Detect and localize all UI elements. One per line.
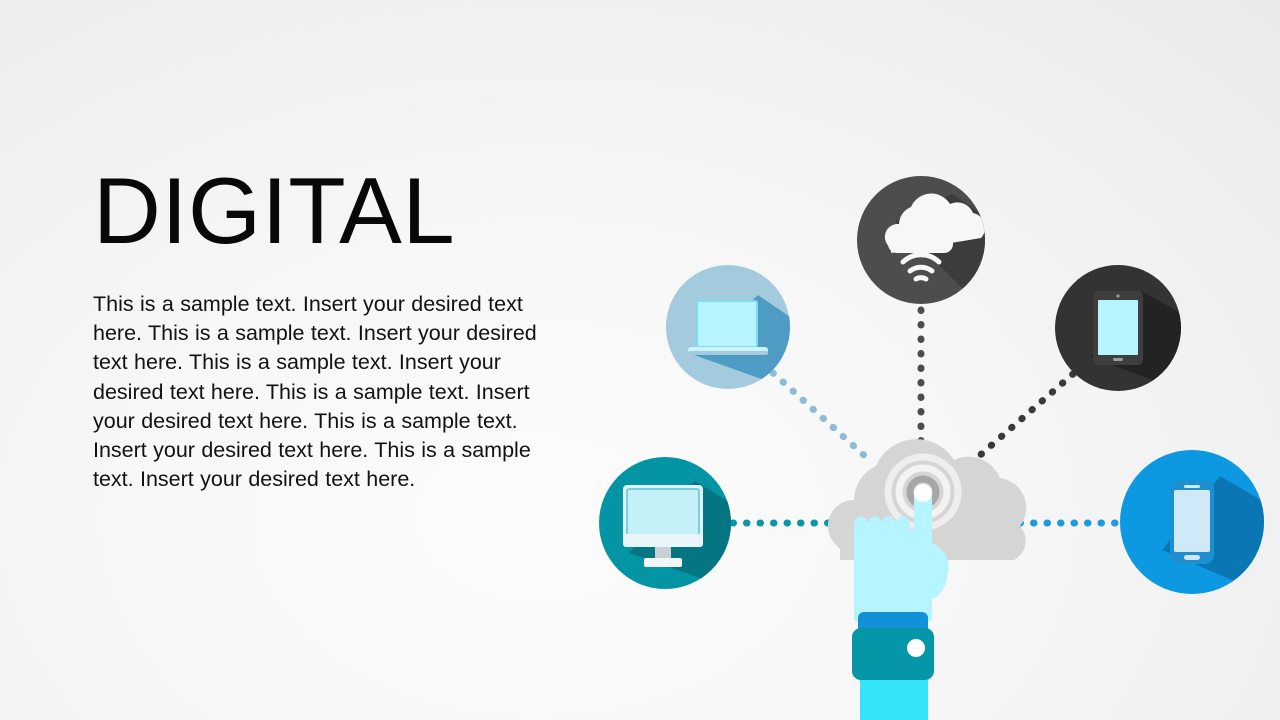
node-laptop[interactable] bbox=[666, 265, 790, 389]
laptop-icon bbox=[666, 265, 790, 389]
smartphone-icon bbox=[1120, 450, 1264, 594]
node-cloud-wifi[interactable] bbox=[857, 176, 985, 304]
arm-sleeve bbox=[860, 680, 928, 720]
watch-dial-icon bbox=[907, 639, 925, 657]
tablet-icon bbox=[1055, 265, 1181, 391]
center-cloud-touch bbox=[810, 430, 1060, 720]
node-smartphone[interactable] bbox=[1120, 450, 1264, 594]
cloud-wifi-icon bbox=[857, 176, 985, 304]
node-desktop-monitor[interactable] bbox=[599, 457, 731, 589]
digital-devices-diagram bbox=[0, 0, 1280, 720]
desktop-monitor-icon bbox=[599, 457, 731, 589]
node-tablet[interactable] bbox=[1055, 265, 1181, 391]
slide-canvas: DIGITAL This is a sample text. Insert yo… bbox=[0, 0, 1280, 720]
